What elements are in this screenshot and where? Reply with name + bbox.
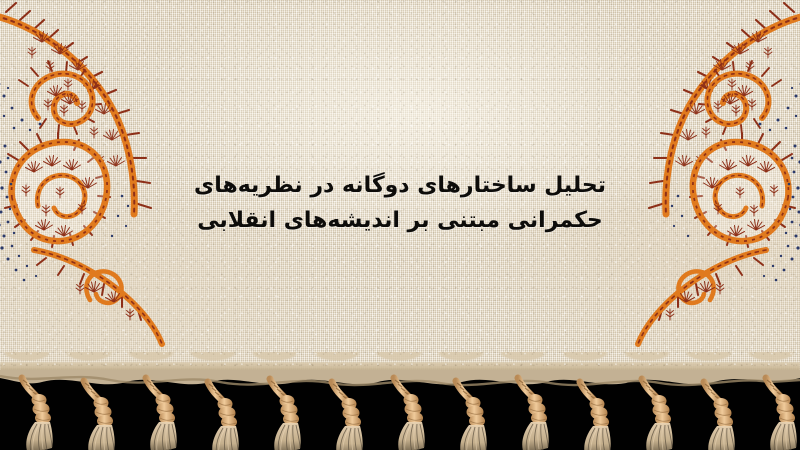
slide-title-line-2: حکمرانی مبتنی بر اندیشه‌های انقلابی	[0, 203, 800, 238]
slide-title-line-1: تحلیل ساختارهای دوگانه در نظریه‌های	[0, 168, 800, 203]
title-slide: تحلیل ساختارهای دوگانه در نظریه‌های حکمر…	[0, 0, 800, 450]
tassel-fringe-icon	[0, 370, 800, 450]
slide-title: تحلیل ساختارهای دوگانه در نظریه‌های حکمر…	[0, 168, 800, 238]
